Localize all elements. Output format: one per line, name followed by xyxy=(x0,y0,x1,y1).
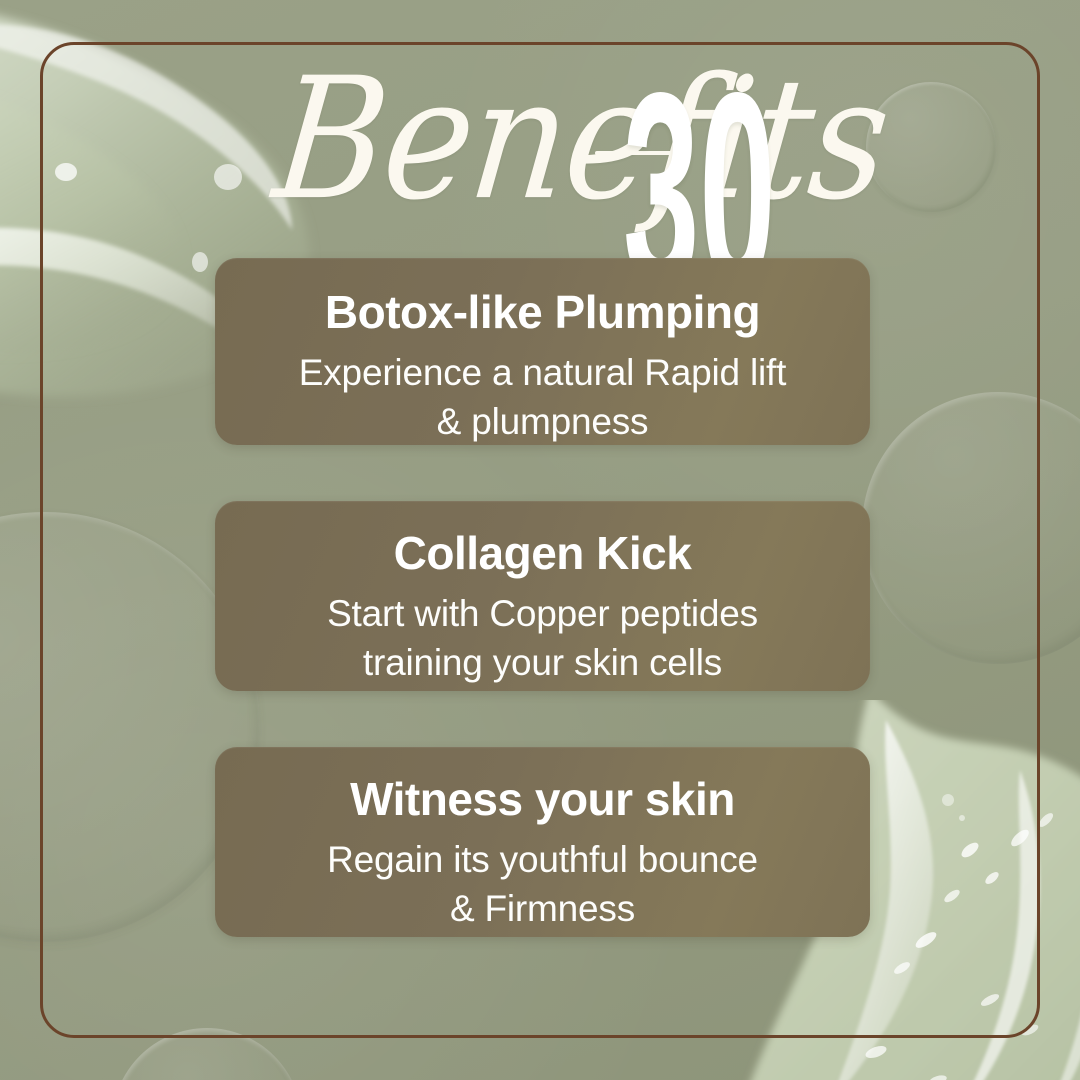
benefit-card-description: Regain its youthful bounce & Firmness xyxy=(245,835,840,933)
benefits-card-list: Botox-like Plumping Experience a natural… xyxy=(215,258,870,937)
poster-heading: Benefits 30 xyxy=(0,48,1080,266)
benefit-card: Witness your skin Regain its youthful bo… xyxy=(215,747,870,937)
benefit-card: Collagen Kick Start with Copper peptides… xyxy=(215,501,870,691)
benefit-card-title: Witness your skin xyxy=(245,775,840,825)
benefit-card-title: Botox-like Plumping xyxy=(245,288,840,338)
decorative-circle-right xyxy=(862,392,1080,664)
benefit-card-title: Collagen Kick xyxy=(245,529,840,579)
benefits-poster: Benefits 30 Botox-like Plumping Experien… xyxy=(0,0,1080,1080)
decorative-circle-bottom xyxy=(112,1028,302,1080)
benefit-card-description: Start with Copper peptides training your… xyxy=(245,589,840,687)
benefit-card: Botox-like Plumping Experience a natural… xyxy=(215,258,870,445)
benefit-card-description: Experience a natural Rapid lift & plumpn… xyxy=(245,348,840,446)
heading-script-word: Benefits xyxy=(268,56,895,224)
